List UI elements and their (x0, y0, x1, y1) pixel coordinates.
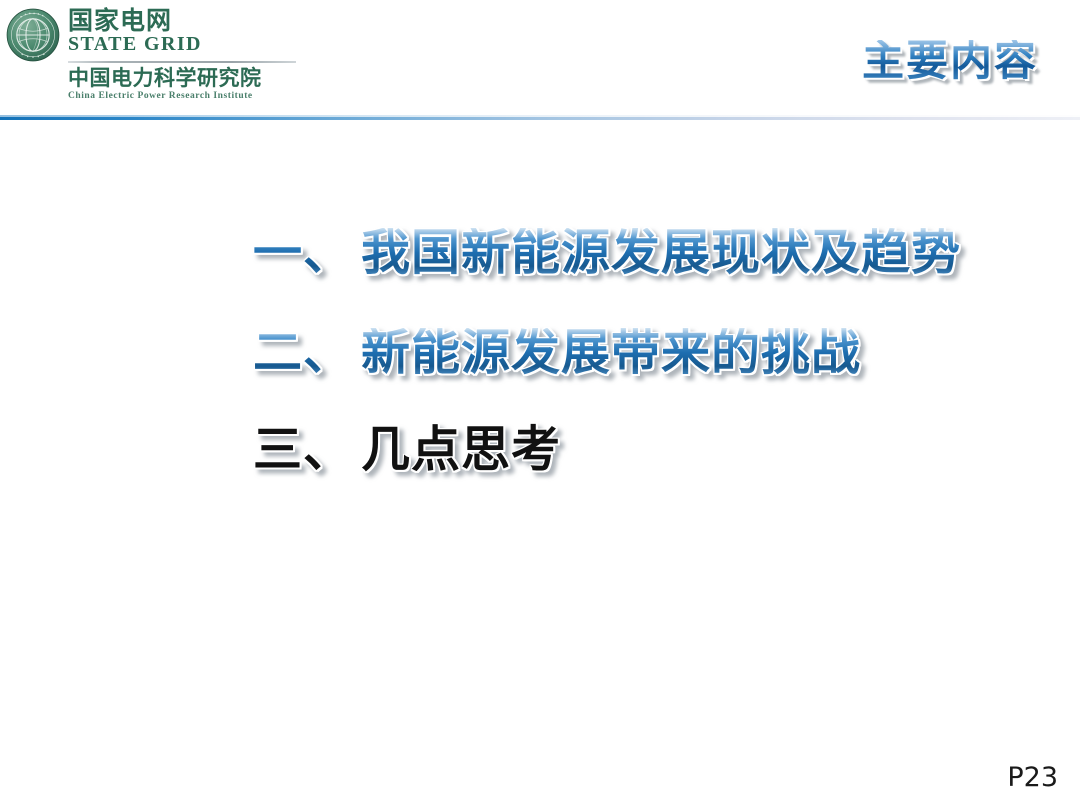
company-name-cn: 国家电网 (68, 8, 296, 34)
header-divider-highlight (0, 115, 1080, 117)
page-number: P23 (1007, 762, 1058, 793)
state-grid-emblem-icon (6, 8, 60, 62)
toc-item-1-label: 我国新能源发展现状及趋势 (361, 228, 961, 277)
slide-header: 国家电网 State Grid 中国电力科学研究院 China Electric… (0, 0, 1080, 120)
brand-lockup: 国家电网 State Grid 中国电力科学研究院 China Electric… (6, 6, 296, 102)
toc-item-3-label: 几点思考 (361, 425, 561, 474)
company-name-en: State Grid (68, 34, 296, 56)
toc-item-3: 三、 几点思考 (253, 425, 561, 474)
toc-item-3-number: 三、 (253, 425, 353, 474)
toc-item-1: 一、 我国新能源发展现状及趋势 (253, 228, 961, 277)
toc-item-2: 二、 新能源发展带来的挑战 (253, 328, 861, 377)
slide-content: 一、 我国新能源发展现状及趋势 二、 新能源发展带来的挑战 三、 几点思考 (0, 120, 1080, 810)
institute-name-en: China Electric Power Research Institute (68, 91, 296, 102)
brand-text-block: 国家电网 State Grid 中国电力科学研究院 China Electric… (68, 6, 296, 102)
toc-item-2-number: 二、 (253, 328, 353, 377)
presentation-slide: 国家电网 State Grid 中国电力科学研究院 China Electric… (0, 0, 1080, 810)
brand-divider-rule (68, 61, 296, 63)
toc-item-1-number: 一、 (253, 228, 353, 277)
institute-name-cn: 中国电力科学研究院 (68, 67, 296, 90)
slide-title: 主要内容 (862, 40, 1038, 82)
toc-item-2-label: 新能源发展带来的挑战 (361, 328, 861, 377)
